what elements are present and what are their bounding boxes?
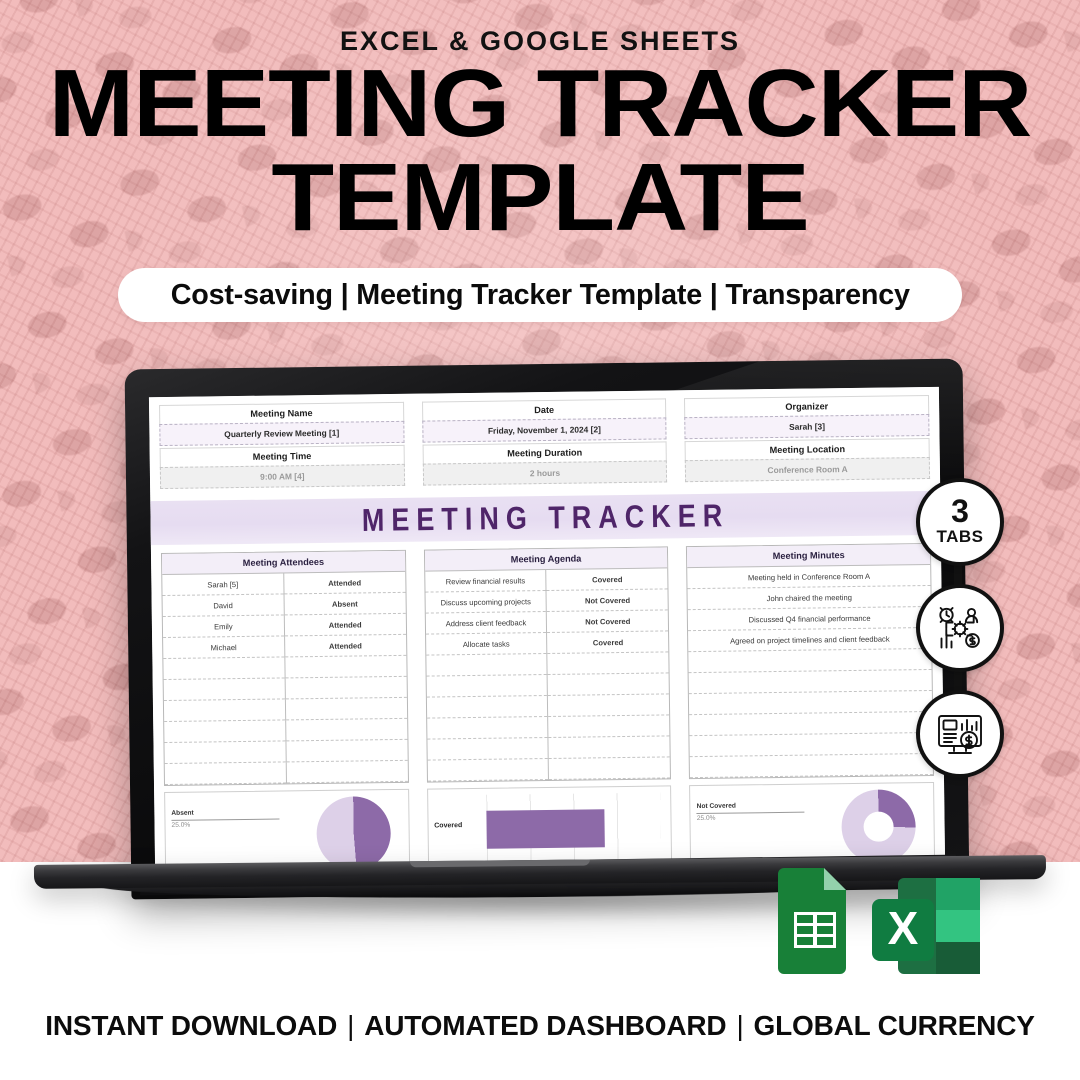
agenda-item-cell[interactable]: Review financial results	[425, 570, 547, 592]
attendees-table: Meeting Attendees Sarah [5]AttendedDavid…	[161, 550, 409, 786]
attendee-name-cell[interactable]	[164, 678, 286, 701]
agenda-item-cell[interactable]: Allocate tasks	[426, 632, 548, 655]
spreadsheet-canvas[interactable]: Meeting Name Quarterly Review Meeting [1…	[149, 387, 945, 871]
agenda-status-cell[interactable]: Covered	[546, 568, 668, 590]
laptop-base-notch	[409, 860, 589, 868]
attendee-status-cell[interactable]	[285, 655, 407, 678]
attendee-status-cell[interactable]	[285, 718, 407, 741]
attendee-status-cell[interactable]	[285, 676, 407, 699]
agenda-item-cell[interactable]: Address client feedback	[425, 612, 547, 635]
agenda-item-cell[interactable]	[427, 695, 549, 718]
table-row	[427, 757, 670, 781]
footer-item-global-currency: GLOBAL CURRENCY	[754, 1010, 1035, 1041]
attendance-pie-chart[interactable]: Absent 25.0%	[164, 789, 410, 871]
agenda-item-cell[interactable]	[427, 758, 549, 781]
attendee-status-cell[interactable]	[286, 760, 408, 783]
bar-series-0	[486, 809, 604, 849]
table-row	[690, 753, 933, 777]
field-value[interactable]: Conference Room A	[685, 457, 930, 482]
agenda-item-cell[interactable]: Discuss upcoming projects	[425, 591, 547, 614]
bar-category-label: Covered	[434, 822, 462, 829]
footer-features: INSTANT DOWNLOAD|AUTOMATED DASHBOARD|GLO…	[0, 1010, 1080, 1042]
field-meeting-duration: Meeting Duration 2 hours	[422, 441, 667, 485]
attendee-name-cell[interactable]	[164, 741, 286, 764]
attendee-status-cell[interactable]: Attended	[284, 613, 406, 636]
google-sheets-logo	[778, 868, 846, 974]
agenda-status-cell[interactable]	[547, 652, 669, 675]
agenda-item-cell[interactable]	[426, 653, 548, 676]
field-meeting-name: Meeting Name Quarterly Review Meeting [1…	[159, 402, 404, 446]
field-value[interactable]: 9:00 AM [4]	[160, 464, 405, 489]
badge-automation	[916, 584, 1004, 672]
microsoft-excel-logo: X	[872, 878, 980, 974]
agenda-table: Meeting Agenda Review financial resultsC…	[424, 546, 672, 782]
footer-item-automated-dashboard: AUTOMATED DASHBOARD	[364, 1010, 726, 1041]
attendee-name-cell[interactable]: Sarah [5]	[162, 573, 284, 595]
excel-logo-letter: X	[888, 902, 919, 954]
agenda-item-cell[interactable]	[427, 737, 549, 760]
field-value[interactable]: Friday, November 1, 2024 [2]	[422, 417, 667, 442]
donut-graphic	[841, 789, 916, 864]
page-title-line-1: MEETING TRACKER	[0, 62, 1080, 146]
listing-image: EXCEL & GOOGLE SHEETS MEETING TRACKER TE…	[0, 0, 1080, 1080]
page-title: MEETING TRACKER TEMPLATE	[0, 62, 1080, 241]
agenda-status-cell[interactable]	[548, 673, 670, 696]
meeting-info-grid: Meeting Name Quarterly Review Meeting [1…	[149, 387, 940, 491]
agenda-item-cell[interactable]	[426, 674, 548, 697]
minutes-note-cell[interactable]	[690, 753, 933, 777]
pie-graphic	[316, 796, 391, 871]
dashboard-monitor-icon	[934, 708, 986, 760]
coverage-donut-chart[interactable]: Not Covered 25.0%	[689, 782, 935, 867]
pie-callout-left: Absent 25.0%	[171, 808, 279, 831]
attendee-status-cell[interactable]	[285, 697, 407, 720]
subtitle-pill-text: Cost-saving | Meeting Tracker Template |…	[170, 279, 909, 312]
attendee-name-cell[interactable]	[165, 762, 287, 785]
attendee-name-cell[interactable]: David	[163, 594, 285, 617]
agenda-status-cell[interactable]	[548, 736, 670, 759]
badge-tabs-caption: TABS	[936, 527, 983, 547]
attendee-status-cell[interactable]: Absent	[284, 592, 406, 615]
field-value[interactable]: 2 hours	[422, 460, 667, 485]
attendee-status-cell[interactable]: Attended	[284, 572, 406, 594]
page-title-line-2: TEMPLATE	[0, 156, 1080, 240]
laptop-screen: Meeting Name Quarterly Review Meeting [1…	[149, 387, 945, 871]
gear-automation-icon	[934, 602, 986, 654]
footer-separator-2: |	[726, 1010, 753, 1042]
minutes-table: Meeting Minutes Meeting held in Conferen…	[686, 543, 934, 779]
attendee-status-cell[interactable]: Attended	[284, 634, 406, 657]
attendee-name-cell[interactable]	[163, 657, 285, 680]
badge-tabs-number: 3	[951, 497, 969, 526]
footer-separator-1: |	[337, 1010, 364, 1042]
table-row	[165, 760, 408, 784]
agenda-bar-chart[interactable]: Covered	[427, 785, 673, 870]
badge-tabs-count: 3 TABS	[916, 478, 1004, 566]
field-organizer: Organizer Sarah [3]	[684, 395, 929, 439]
app-logos: X	[772, 866, 987, 984]
field-value[interactable]: Quarterly Review Meeting [1]	[159, 421, 404, 446]
agenda-status-cell[interactable]: Not Covered	[546, 589, 668, 612]
donut-callout-left: Not Covered 25.0%	[697, 801, 805, 824]
pie-callout-value: 25.0%	[171, 822, 190, 829]
field-meeting-time: Meeting Time 9:00 AM [4]	[160, 445, 405, 489]
feature-badge-rail: 3 TABS	[916, 478, 1000, 796]
field-date: Date Friday, November 1, 2024 [2]	[422, 398, 667, 442]
agenda-status-cell[interactable]: Not Covered	[547, 610, 669, 633]
agenda-status-cell[interactable]	[549, 757, 671, 780]
donut-callout-value: 25.0%	[697, 815, 716, 822]
agenda-status-cell[interactable]	[548, 694, 670, 717]
tables-row: Meeting Attendees Sarah [5]AttendedDavid…	[151, 535, 944, 786]
agenda-status-cell[interactable]: Covered	[547, 631, 669, 654]
donut-callout-label: Not Covered	[697, 801, 805, 814]
attendee-name-cell[interactable]	[164, 720, 286, 743]
attendee-status-cell[interactable]	[286, 739, 408, 762]
attendee-name-cell[interactable]	[164, 699, 286, 722]
field-value[interactable]: Sarah [3]	[685, 414, 930, 439]
laptop-lid: Meeting Name Quarterly Review Meeting [1…	[125, 359, 970, 900]
sheet-title-text: MEETING TRACKER	[362, 497, 730, 538]
agenda-status-cell[interactable]	[548, 715, 670, 738]
badge-dashboard	[916, 690, 1004, 778]
attendee-name-cell[interactable]: Emily	[163, 615, 285, 638]
footer-item-instant-download: INSTANT DOWNLOAD	[45, 1010, 337, 1041]
pie-callout-label: Absent	[171, 808, 279, 821]
bar-graphic: Covered	[428, 786, 672, 869]
field-meeting-location: Meeting Location Conference Room A	[685, 438, 930, 482]
agenda-item-cell[interactable]	[427, 716, 549, 739]
attendee-name-cell[interactable]: Michael	[163, 636, 285, 659]
subtitle-pill: Cost-saving | Meeting Tracker Template |…	[118, 268, 962, 322]
